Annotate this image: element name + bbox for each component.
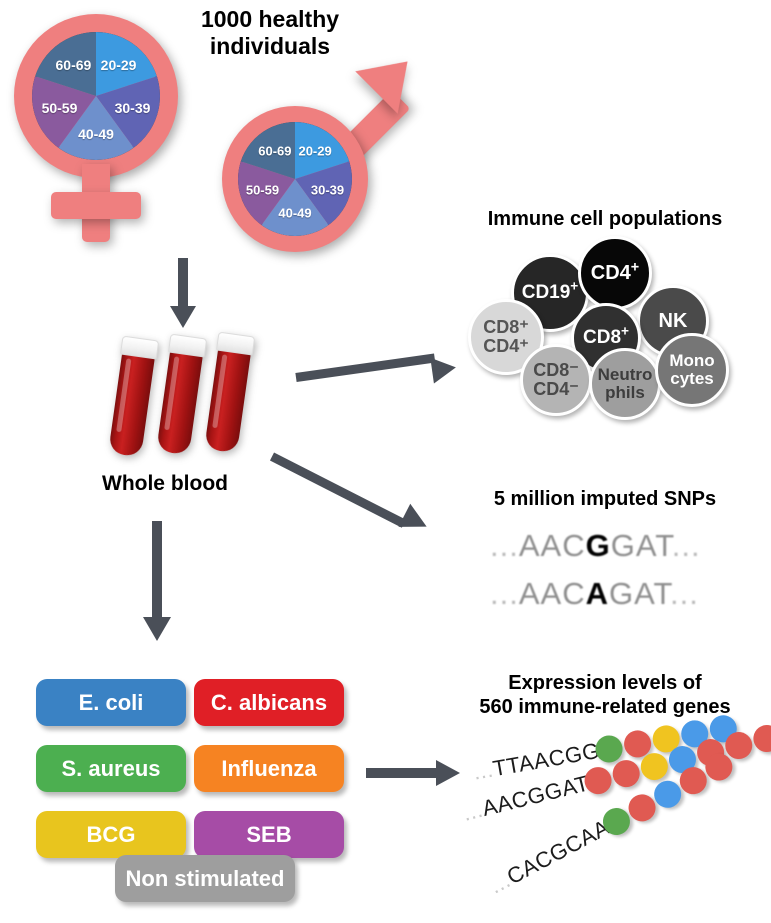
snp-suffix: GAT [611, 528, 672, 563]
stimulation-e--coli[interactable]: E. coli [36, 679, 186, 726]
stimulation-influenza[interactable]: Influenza [194, 745, 344, 792]
snp-sequence-row: ...AACGGAT... [490, 528, 701, 564]
immune-cell-monocytes: Mono cytes [655, 333, 729, 407]
snp-prefix: AAC [519, 576, 586, 611]
snp-lead-dots: ... [490, 528, 519, 563]
snp-sequence-block: ...AACGGAT......AACAGAT... [490, 528, 750, 624]
snp-trail-dots: ... [672, 528, 701, 563]
immune-cell-neutrophils: Neutro phils [589, 348, 661, 420]
immune-cell-cd8cd4: CD8⁻ CD4⁻ [520, 344, 592, 416]
figure-canvas: 1000 healthy individuals Immune cell pop… [0, 0, 771, 922]
snp-trail-dots: ... [670, 576, 699, 611]
strand-lead-dots: ... [471, 757, 495, 785]
snp-variant-base: G [586, 528, 611, 563]
gene-bead [610, 757, 643, 790]
strand-lead-dots: ... [485, 867, 514, 898]
stimulation-s--aureus[interactable]: S. aureus [36, 745, 186, 792]
strand-sequence: ...CACGCAA [485, 814, 614, 899]
immune-cell-cd4: CD4+ [578, 236, 652, 310]
stimulation-conditions-group: E. coliC. albicansS. aureusInfluenzaBCGS… [0, 0, 400, 922]
snp-suffix: GAT [609, 576, 670, 611]
expression-strands-group: ...TTAACGG...AACGGAT...CACGCAA [440, 710, 771, 910]
strand-lead-dots: ... [460, 797, 485, 826]
stimulation-c--albicans[interactable]: C. albicans [194, 679, 344, 726]
snp-sequence-row: ...AACAGAT... [490, 576, 699, 612]
stimulation-non-stimulated[interactable]: Non stimulated [115, 855, 295, 902]
stimulation-bcg[interactable]: BCG [36, 811, 186, 858]
stimulation-seb[interactable]: SEB [194, 811, 344, 858]
snp-lead-dots: ... [490, 576, 519, 611]
snp-variant-base: A [586, 576, 609, 611]
gene-bead [751, 722, 771, 755]
snp-prefix: AAC [519, 528, 586, 563]
